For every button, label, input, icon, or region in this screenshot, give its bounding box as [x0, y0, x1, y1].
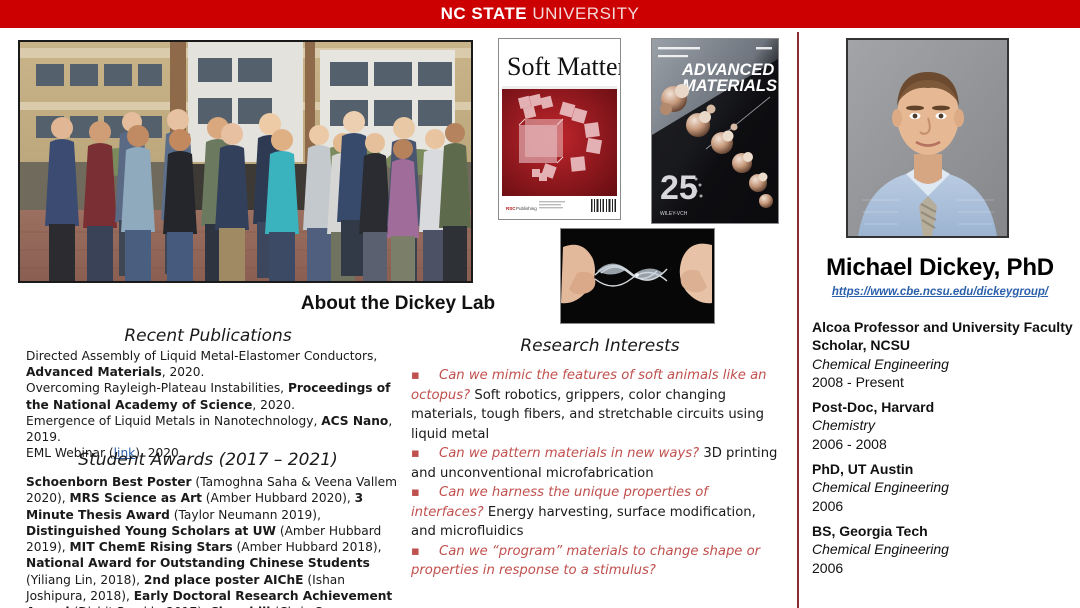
- research-interest-item: ▪Can we “program” materials to change sh…: [411, 542, 781, 581]
- bio-years: 2006: [812, 559, 1074, 577]
- person-name: Michael Dickey, PhD: [806, 254, 1074, 282]
- group-photo: [18, 40, 473, 283]
- bio-entry: BS, Georgia TechChemical Engineering2006: [812, 522, 1074, 577]
- research-question: Can we “program” materials to change sha…: [411, 544, 760, 579]
- bio-list: Alcoa Professor and University Faculty S…: [812, 318, 1074, 584]
- research-interest-item: ▪Can we harness the unique properties of…: [411, 483, 781, 542]
- fiber-photo-graphic: [561, 229, 714, 323]
- award-name: MIT ChemE Rising Stars: [70, 540, 233, 554]
- student-awards-heading: Student Awards (2017 – 2021): [18, 450, 398, 470]
- bullet-icon: ▪: [411, 444, 439, 464]
- recent-publications-heading: Recent Publications: [18, 326, 398, 346]
- svg-text:25: 25: [660, 169, 698, 207]
- award-name: Schoenborn Best Poster: [26, 475, 192, 489]
- portrait-photo-graphic: [848, 40, 1007, 236]
- bio-entry: PhD, UT AustinChemical Engineering2006: [812, 460, 1074, 515]
- award-name: MRS Science as Art: [70, 491, 202, 505]
- bio-years: 2006: [812, 497, 1074, 515]
- brand-light-text: UNIVERSITY: [532, 4, 639, 23]
- award-detail: (Amber Hubbard 2018),: [233, 540, 382, 554]
- research-interest-item: ▪Can we pattern materials in new ways? 3…: [411, 444, 781, 483]
- award-name: 2nd place poster AIChE: [144, 573, 304, 587]
- bullet-icon: ▪: [411, 366, 439, 386]
- bio-title: Post-Doc, Harvard: [812, 398, 1074, 416]
- bio-title: PhD, UT Austin: [812, 460, 1074, 478]
- publication-item: Directed Assembly of Liquid Metal-Elasto…: [26, 348, 398, 380]
- bio-years: 2008 - Present: [812, 373, 1074, 391]
- bio-years: 2006 - 2008: [812, 435, 1074, 453]
- vertical-divider: [797, 32, 799, 608]
- award-detail: (Yiliang Lin, 2018),: [26, 573, 144, 587]
- nc-state-wordmark: NC STATE UNIVERSITY: [441, 4, 640, 24]
- research-interest-item: ▪Can we mimic the features of soft anima…: [411, 366, 781, 444]
- award-detail: (Taylor Neumann 2019),: [170, 508, 321, 522]
- bio-field: Chemical Engineering: [812, 540, 1074, 558]
- svg-text:WILEY-VCH: WILEY-VCH: [660, 211, 688, 217]
- recent-publications-list: Directed Assembly of Liquid Metal-Elasto…: [26, 348, 398, 461]
- brand-bold-text: NC STATE: [441, 4, 527, 23]
- svg-text:MATERIALS: MATERIALS: [682, 77, 777, 95]
- award-name: Distinguished Young Scholars at UW: [26, 524, 276, 538]
- group-photo-graphic: [20, 42, 471, 281]
- bio-entry: Post-Doc, HarvardChemistry2006 - 2008: [812, 398, 1074, 453]
- publication-item: Overcoming Rayleigh-Plateau Instabilitie…: [26, 380, 398, 412]
- nc-state-header-bar: NC STATE UNIVERSITY: [0, 0, 1080, 28]
- portrait-photo: [846, 38, 1009, 238]
- award-detail: (Amber Hubbard 2020),: [202, 491, 355, 505]
- bullet-icon: ▪: [411, 483, 439, 503]
- publication-journal: Advanced Materials: [26, 365, 162, 379]
- journal-cover-advanced-materials: ADVANCED MATERIALS 25: [651, 38, 779, 224]
- publication-journal: ACS Nano: [321, 414, 388, 428]
- svg-text:RSC: RSC: [506, 206, 516, 211]
- research-interests-heading: Research Interests: [415, 336, 785, 356]
- group-website-link[interactable]: https://www.cbe.ncsu.edu/dickeygroup/: [806, 286, 1074, 298]
- publication-item: Emergence of Liquid Metals in Nanotechno…: [26, 413, 398, 445]
- bio-field: Chemical Engineering: [812, 355, 1074, 373]
- journal-cover-soft-matter: Soft Matter: [498, 38, 621, 220]
- stretchable-fiber-photo: [560, 228, 715, 324]
- bio-field: Chemistry: [812, 416, 1074, 434]
- presentation-slide: NC STATE UNIVERSITY: [0, 0, 1080, 608]
- bullet-icon: ▪: [411, 542, 439, 562]
- svg-text:Publishing: Publishing: [516, 206, 537, 211]
- bio-title: Alcoa Professor and University Faculty S…: [812, 318, 1074, 355]
- advanced-materials-cover-graphic: ADVANCED MATERIALS 25: [652, 39, 778, 223]
- award-name: National Award for Outstanding Chinese S…: [26, 556, 370, 570]
- publication-journal: Proceedings of the National Academy of S…: [26, 381, 390, 411]
- soft-matter-cover-graphic: Soft Matter: [499, 39, 620, 219]
- bio-entry: Alcoa Professor and University Faculty S…: [812, 318, 1074, 391]
- bio-field: Chemical Engineering: [812, 478, 1074, 496]
- research-interests-list: ▪Can we mimic the features of soft anima…: [411, 366, 781, 581]
- bio-title: BS, Georgia Tech: [812, 522, 1074, 540]
- svg-text:Soft Matter: Soft Matter: [507, 52, 620, 81]
- student-awards-list: Schoenborn Best Poster (Tamoghna Saha & …: [26, 474, 398, 608]
- research-question: Can we pattern materials in new ways?: [439, 446, 699, 461]
- awards-paragraph: Schoenborn Best Poster (Tamoghna Saha & …: [26, 475, 397, 608]
